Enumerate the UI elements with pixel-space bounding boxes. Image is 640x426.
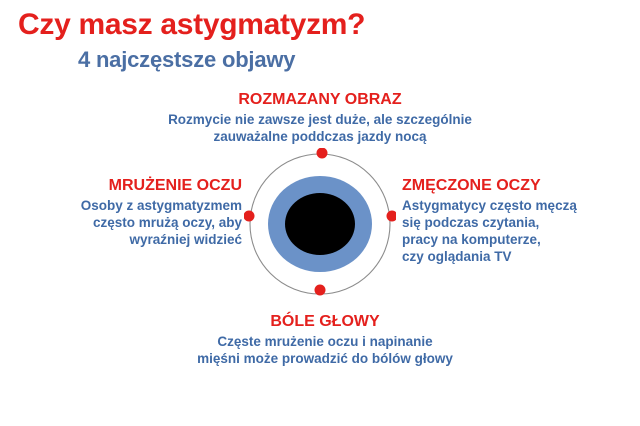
symptom-block-blurred-vision: ROZMAZANY OBRAZ Rozmycie nie zawsze jest… bbox=[120, 90, 520, 145]
page-subtitle: 4 najczęstsze objawy bbox=[78, 47, 295, 73]
pupil-ellipse bbox=[285, 193, 355, 255]
marker-dot-top bbox=[317, 148, 328, 159]
symptom-body-line: Osoby z astygmatyzmem bbox=[10, 197, 242, 214]
symptom-block-headaches: BÓLE GŁOWY Częste mrużenie oczu i napina… bbox=[150, 312, 500, 367]
symptom-body-line: Rozmycie nie zawsze jest duże, ale szcze… bbox=[120, 111, 520, 128]
symptom-body-squinting: Osoby z astygmatyzmem często mrużą oczy,… bbox=[10, 197, 242, 248]
symptom-body-blurred-vision: Rozmycie nie zawsze jest duże, ale szcze… bbox=[120, 111, 520, 145]
symptom-body-line: Astygmatycy często męczą bbox=[402, 197, 638, 214]
marker-dot-left bbox=[244, 211, 255, 222]
symptom-block-squinting: MRUŻENIE OCZU Osoby z astygmatyzmem częs… bbox=[10, 176, 242, 248]
infographic-canvas: Czy masz astygmatyzm? 4 najczęstsze obja… bbox=[0, 0, 640, 426]
eye-diagram bbox=[244, 148, 396, 300]
symptom-body-line: mięśni może prowadzić do bólów głowy bbox=[150, 350, 500, 367]
symptom-body-line: zauważalne poddczas jazdy nocą bbox=[120, 128, 520, 145]
symptom-heading-tired-eyes: ZMĘCZONE OCZY bbox=[402, 176, 638, 195]
symptom-body-line: czy oglądania TV bbox=[402, 248, 638, 265]
symptom-block-tired-eyes: ZMĘCZONE OCZY Astygmatycy często męczą s… bbox=[402, 176, 638, 265]
symptom-body-line: Częste mrużenie oczu i napinanie bbox=[150, 333, 500, 350]
symptom-heading-squinting: MRUŻENIE OCZU bbox=[10, 176, 242, 195]
symptom-body-tired-eyes: Astygmatycy często męczą się podczas czy… bbox=[402, 197, 638, 265]
symptom-body-line: często mrużą oczy, aby bbox=[10, 214, 242, 231]
symptom-body-line: się podczas czytania, bbox=[402, 214, 638, 231]
marker-dot-bottom bbox=[315, 285, 326, 296]
symptom-heading-blurred-vision: ROZMAZANY OBRAZ bbox=[120, 90, 520, 109]
symptom-heading-headaches: BÓLE GŁOWY bbox=[150, 312, 500, 331]
symptom-body-headaches: Częste mrużenie oczu i napinanie mięśni … bbox=[150, 333, 500, 367]
symptom-body-line: pracy na komputerze, bbox=[402, 231, 638, 248]
page-title: Czy masz astygmatyzm? bbox=[18, 8, 365, 42]
symptom-body-line: wyraźniej widzieć bbox=[10, 231, 242, 248]
